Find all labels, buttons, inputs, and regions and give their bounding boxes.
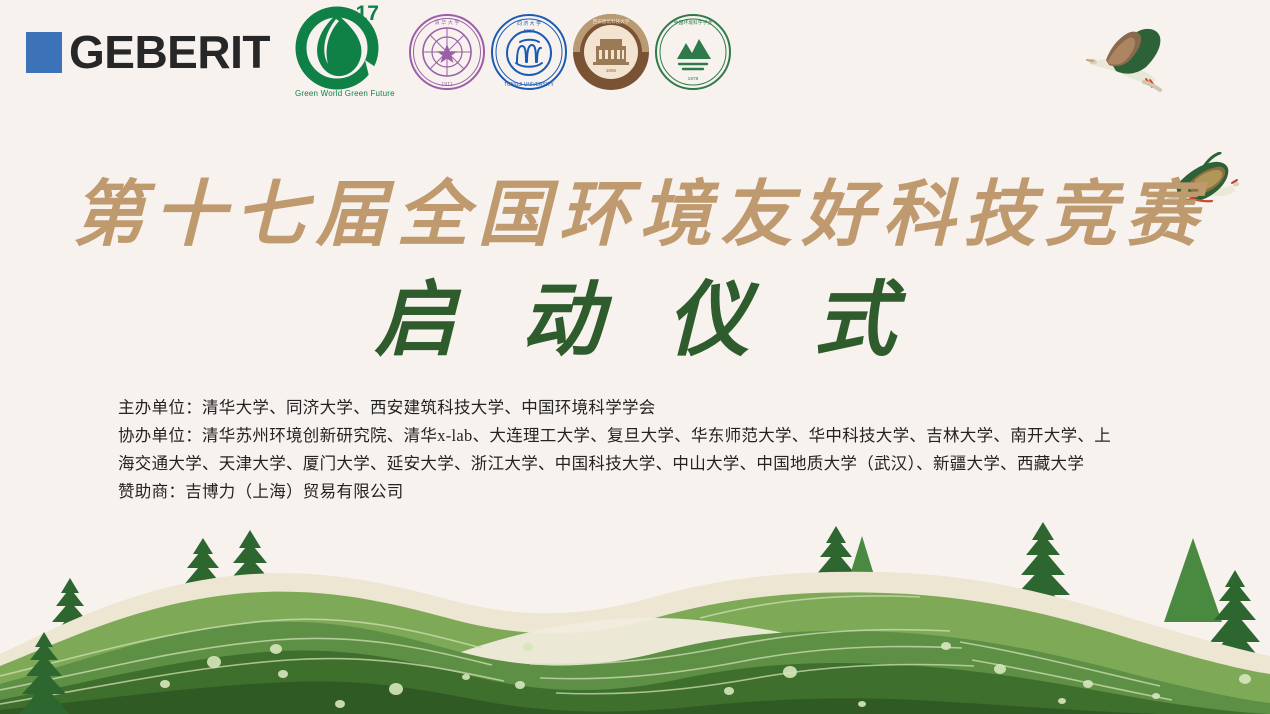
sponsor-line: 赞助商：吉博力（上海）贸易有限公司 <box>118 478 1118 506</box>
seal-chinese-society-environmental-sciences: 中国环境科学学会 1978 <box>653 12 733 92</box>
poster-details: 主办单位：清华大学、同济大学、西安建筑科技大学、中国环境科学学会 协办单位：清华… <box>118 394 1118 506</box>
logo-strip: GEBERIT 17 Green World Green Future <box>0 0 1270 104</box>
geberit-wordmark: GEBERIT <box>69 29 270 75</box>
svg-text:TONGJI UNIVERSITY: TONGJI UNIVERSITY <box>504 82 554 88</box>
svg-text:清 华 大 学: 清 华 大 学 <box>434 18 459 26</box>
svg-text:中国环境科学学会: 中国环境科学学会 <box>674 19 713 26</box>
seal-xian-university-architecture-technology: 1895 西安建筑科技大学 <box>571 12 651 92</box>
tsinghua-seal-icon: 清 华 大 学 1911 <box>407 12 487 92</box>
tongji-seal-icon: 同 济 大 学 1907 TONGJI UNIVERSITY <box>489 12 569 92</box>
edition-number: 17 <box>356 2 379 26</box>
competition-logo-caption: Green World Green Future <box>295 89 387 98</box>
coorganizers-line: 协办单位：清华苏州环境创新研究院、清华x-lab、大连理工大学、复旦大学、华东师… <box>118 422 1118 478</box>
seal-tsinghua-university: 清 华 大 学 1911 <box>407 12 487 92</box>
xauat-seal-icon: 1895 西安建筑科技大学 <box>571 12 651 92</box>
cses-seal-icon: 中国环境科学学会 1978 <box>653 12 733 92</box>
svg-text:1907: 1907 <box>523 29 534 35</box>
organizers-line: 主办单位：清华大学、同济大学、西安建筑科技大学、中国环境科学学会 <box>118 394 1118 422</box>
flying-goose-upper-icon <box>1086 27 1182 107</box>
seal-tongji-university: 同 济 大 学 1907 TONGJI UNIVERSITY <box>489 12 569 92</box>
geberit-logo: GEBERIT <box>26 29 270 75</box>
svg-text:1895: 1895 <box>606 68 617 73</box>
svg-text:同 济 大 学: 同 济 大 学 <box>517 20 541 27</box>
landscape-illustration <box>0 514 1270 714</box>
svg-text:1978: 1978 <box>688 76 699 82</box>
svg-text:西安建筑科技大学: 西安建筑科技大学 <box>593 18 630 25</box>
geberit-square-icon <box>26 32 62 73</box>
poster-canvas: GEBERIT 17 Green World Green Future <box>0 0 1270 714</box>
competition-logo: 17 Green World Green Future <box>295 4 387 100</box>
poster-title-sub: 启 动 仪 式 <box>0 253 1270 372</box>
svg-text:1911: 1911 <box>441 82 452 88</box>
poster-title-main: 第十七届全国环境友好科技竞赛 <box>0 155 1270 260</box>
